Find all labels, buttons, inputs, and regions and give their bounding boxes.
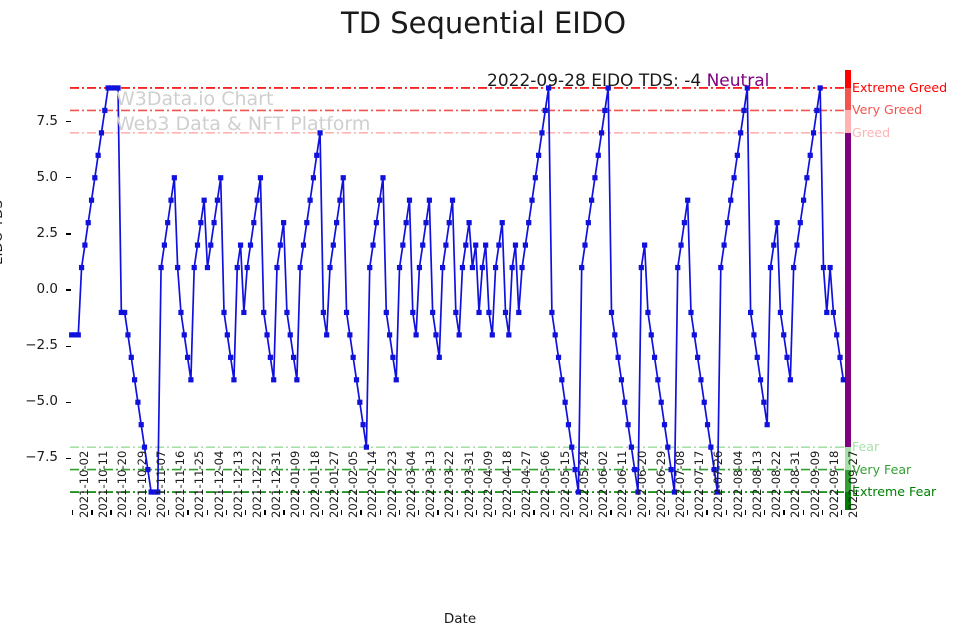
data-point-marker bbox=[453, 310, 458, 315]
data-point-marker bbox=[235, 265, 240, 270]
data-point-marker bbox=[506, 332, 511, 337]
data-point-marker bbox=[566, 422, 571, 427]
data-point-marker bbox=[473, 243, 478, 248]
threshold-label: Very Fear bbox=[852, 462, 911, 477]
data-point-marker bbox=[765, 422, 770, 427]
x-tick-mark bbox=[514, 510, 515, 515]
data-point-marker bbox=[281, 220, 286, 225]
x-tick-label: 2021-11-25 bbox=[192, 451, 206, 518]
data-point-marker bbox=[619, 377, 624, 382]
data-point-marker bbox=[168, 198, 173, 203]
data-point-marker bbox=[519, 265, 524, 270]
data-point-marker bbox=[162, 243, 167, 248]
plot-area bbox=[70, 70, 845, 510]
data-point-marker bbox=[705, 422, 710, 427]
data-point-marker bbox=[463, 243, 468, 248]
data-point-marker bbox=[271, 377, 276, 382]
data-point-marker bbox=[301, 243, 306, 248]
data-point-marker bbox=[132, 377, 137, 382]
annotation-value: 2022-09-28 EIDO TDS: -4 bbox=[487, 71, 701, 91]
data-point-marker bbox=[821, 265, 826, 270]
watermark-line-1: W3Data.io Chart bbox=[116, 88, 273, 110]
x-tick-mark bbox=[380, 510, 381, 515]
data-point-marker bbox=[450, 198, 455, 203]
watermark-line-2: Web3 Data & NFT Platform bbox=[116, 113, 370, 135]
data-point-marker bbox=[493, 265, 498, 270]
x-tick-mark bbox=[572, 510, 573, 515]
x-tick-label: 2021-11-16 bbox=[173, 451, 187, 518]
threshold-label: Greed bbox=[852, 125, 890, 140]
data-point-marker bbox=[308, 198, 313, 203]
data-point-marker bbox=[278, 243, 283, 248]
data-point-marker bbox=[513, 243, 518, 248]
status-colorbar bbox=[845, 70, 851, 510]
data-point-marker bbox=[99, 130, 104, 135]
data-point-marker bbox=[102, 108, 107, 113]
data-point-marker bbox=[129, 355, 134, 360]
data-point-marker bbox=[616, 355, 621, 360]
data-point-marker bbox=[457, 332, 462, 337]
data-point-marker bbox=[404, 220, 409, 225]
data-point-marker bbox=[801, 198, 806, 203]
y-tick-label: 7.5 bbox=[2, 113, 58, 129]
data-point-marker bbox=[430, 310, 435, 315]
data-point-marker bbox=[400, 243, 405, 248]
data-point-marker bbox=[784, 355, 789, 360]
x-tick-mark bbox=[495, 510, 496, 515]
data-point-marker bbox=[264, 332, 269, 337]
data-point-marker bbox=[374, 220, 379, 225]
data-point-marker bbox=[675, 265, 680, 270]
x-tick-mark bbox=[630, 510, 631, 515]
data-point-marker bbox=[334, 220, 339, 225]
x-tick-label: 2022-01-09 bbox=[288, 451, 302, 518]
x-tick-label: 2022-07-26 bbox=[711, 451, 725, 518]
x-axis-label: Date bbox=[0, 611, 920, 627]
x-tick-mark bbox=[303, 510, 304, 515]
data-point-marker bbox=[76, 332, 81, 337]
x-tick-label: 2022-04-18 bbox=[500, 451, 514, 518]
x-tick-mark bbox=[264, 510, 265, 515]
y-tick-label: 0.0 bbox=[2, 281, 58, 297]
data-point-marker bbox=[321, 310, 326, 315]
data-point-marker bbox=[311, 175, 316, 180]
data-point-marker bbox=[808, 153, 813, 158]
data-point-marker bbox=[639, 265, 644, 270]
x-tick-mark bbox=[668, 510, 669, 515]
data-point-marker bbox=[652, 355, 657, 360]
data-point-marker bbox=[79, 265, 84, 270]
data-point-marker bbox=[466, 220, 471, 225]
data-point-marker bbox=[659, 400, 664, 405]
data-point-marker bbox=[178, 310, 183, 315]
data-point-marker bbox=[526, 220, 531, 225]
data-point-marker bbox=[655, 377, 660, 382]
data-point-marker bbox=[625, 422, 630, 427]
data-point-marker bbox=[536, 153, 541, 158]
data-point-marker bbox=[718, 265, 723, 270]
x-tick-label: 2022-03-22 bbox=[442, 451, 456, 518]
x-tick-label: 2022-08-22 bbox=[769, 451, 783, 518]
y-tick-label: −5.0 bbox=[2, 393, 58, 409]
x-tick-mark bbox=[399, 510, 400, 515]
data-point-marker bbox=[698, 377, 703, 382]
data-point-marker bbox=[380, 175, 385, 180]
data-point-marker bbox=[529, 198, 534, 203]
data-point-marker bbox=[460, 265, 465, 270]
x-tick-label: 2022-02-23 bbox=[385, 451, 399, 518]
x-tick-label: 2022-07-17 bbox=[692, 451, 706, 518]
data-point-marker bbox=[811, 130, 816, 135]
data-point-marker bbox=[261, 310, 266, 315]
y-tick-label: 5.0 bbox=[2, 169, 58, 185]
x-tick-mark bbox=[553, 510, 554, 515]
x-tick-label: 2022-03-13 bbox=[423, 451, 437, 518]
x-tick-label: 2022-04-27 bbox=[519, 451, 533, 518]
data-point-marker bbox=[202, 198, 207, 203]
data-point-marker bbox=[814, 108, 819, 113]
y-tick-mark bbox=[66, 346, 71, 347]
x-tick-mark bbox=[168, 510, 169, 515]
data-point-marker bbox=[122, 310, 127, 315]
data-point-marker bbox=[599, 130, 604, 135]
data-point-marker bbox=[440, 265, 445, 270]
x-tick-mark bbox=[745, 510, 746, 515]
data-point-marker bbox=[135, 400, 140, 405]
data-point-marker bbox=[500, 220, 505, 225]
data-point-marker bbox=[645, 310, 650, 315]
data-point-marker bbox=[708, 445, 713, 450]
data-point-marker bbox=[758, 377, 763, 382]
data-point-marker bbox=[291, 355, 296, 360]
data-point-marker bbox=[367, 265, 372, 270]
data-point-marker bbox=[351, 355, 356, 360]
data-point-marker bbox=[834, 332, 839, 337]
x-tick-label: 2021-10-11 bbox=[96, 451, 110, 518]
x-tick-mark bbox=[322, 510, 323, 515]
data-point-marker bbox=[662, 422, 667, 427]
data-point-marker bbox=[751, 332, 756, 337]
chart-page: TD Sequential EIDO W3Data.io Chart Web3 … bbox=[0, 0, 967, 633]
data-point-marker bbox=[327, 265, 332, 270]
x-tick-mark bbox=[706, 510, 707, 515]
page-title: TD Sequential EIDO bbox=[0, 6, 967, 40]
data-point-marker bbox=[649, 332, 654, 337]
data-point-marker bbox=[175, 265, 180, 270]
data-point-marker bbox=[794, 243, 799, 248]
x-tick-mark bbox=[726, 510, 727, 515]
x-tick-label: 2022-02-14 bbox=[365, 451, 379, 518]
data-point-marker bbox=[622, 400, 627, 405]
x-tick-label: 2022-01-27 bbox=[327, 451, 341, 518]
data-point-marker bbox=[612, 332, 617, 337]
x-tick-label: 2022-05-06 bbox=[538, 451, 552, 518]
data-point-marker bbox=[417, 265, 422, 270]
data-point-marker bbox=[503, 310, 508, 315]
data-point-marker bbox=[695, 355, 700, 360]
data-point-marker bbox=[125, 332, 130, 337]
data-point-marker bbox=[248, 243, 253, 248]
data-point-marker bbox=[553, 332, 558, 337]
data-point-marker bbox=[370, 243, 375, 248]
data-point-marker bbox=[433, 332, 438, 337]
data-point-marker bbox=[354, 377, 359, 382]
y-tick-label: 2.5 bbox=[2, 225, 58, 241]
data-point-marker bbox=[741, 108, 746, 113]
data-point-marker bbox=[728, 198, 733, 203]
x-tick-label: 2022-08-04 bbox=[731, 451, 745, 518]
y-tick-mark bbox=[66, 402, 71, 403]
data-point-marker bbox=[337, 198, 342, 203]
x-tick-mark bbox=[457, 510, 458, 515]
x-tick-label: 2022-05-15 bbox=[558, 451, 572, 518]
data-point-marker bbox=[569, 445, 574, 450]
colorbar-segment bbox=[845, 70, 851, 88]
annotation-status: Neutral bbox=[707, 71, 770, 91]
data-point-marker bbox=[423, 220, 428, 225]
x-tick-label: 2022-08-31 bbox=[788, 451, 802, 518]
data-point-marker bbox=[96, 153, 101, 158]
data-point-marker bbox=[298, 265, 303, 270]
data-point-marker bbox=[725, 220, 730, 225]
x-tick-mark bbox=[803, 510, 804, 515]
x-tick-mark bbox=[437, 510, 438, 515]
data-point-marker bbox=[241, 310, 246, 315]
data-point-marker bbox=[831, 310, 836, 315]
data-point-marker bbox=[702, 400, 707, 405]
data-point-marker bbox=[341, 175, 346, 180]
data-point-marker bbox=[579, 265, 584, 270]
data-point-marker bbox=[470, 265, 475, 270]
x-tick-mark bbox=[476, 510, 477, 515]
x-tick-mark bbox=[533, 510, 534, 515]
data-point-marker bbox=[394, 377, 399, 382]
x-tick-mark bbox=[591, 510, 592, 515]
data-point-marker bbox=[172, 175, 177, 180]
x-tick-label: 2022-04-09 bbox=[481, 451, 495, 518]
data-point-marker bbox=[139, 422, 144, 427]
data-point-marker bbox=[221, 310, 226, 315]
y-tick-label: −2.5 bbox=[2, 337, 58, 353]
data-point-marker bbox=[556, 355, 561, 360]
x-tick-mark bbox=[841, 510, 842, 515]
threshold-label: Fear bbox=[852, 439, 879, 454]
data-point-marker bbox=[158, 265, 163, 270]
data-point-marker bbox=[258, 175, 263, 180]
data-point-marker bbox=[778, 310, 783, 315]
data-point-marker bbox=[397, 265, 402, 270]
data-point-marker bbox=[818, 85, 823, 90]
x-tick-label: 2022-09-18 bbox=[827, 451, 841, 518]
x-tick-mark bbox=[72, 510, 73, 515]
data-point-marker bbox=[841, 377, 846, 382]
data-point-marker bbox=[211, 220, 216, 225]
y-tick-mark bbox=[66, 177, 71, 178]
threshold-label: Extreme Fear bbox=[852, 484, 936, 499]
data-point-marker bbox=[748, 310, 753, 315]
x-tick-mark bbox=[822, 510, 823, 515]
series-canvas bbox=[70, 70, 845, 510]
x-tick-mark bbox=[91, 510, 92, 515]
data-point-marker bbox=[324, 332, 329, 337]
data-point-marker bbox=[483, 243, 488, 248]
data-point-marker bbox=[476, 310, 481, 315]
data-point-marker bbox=[781, 332, 786, 337]
data-point-marker bbox=[609, 310, 614, 315]
data-point-marker bbox=[685, 198, 690, 203]
data-point-marker bbox=[692, 332, 697, 337]
data-point-marker bbox=[357, 400, 362, 405]
x-tick-label: 2022-09-09 bbox=[808, 451, 822, 518]
data-point-marker bbox=[208, 243, 213, 248]
data-point-marker bbox=[563, 400, 568, 405]
data-point-marker bbox=[377, 198, 382, 203]
data-point-marker bbox=[165, 220, 170, 225]
data-point-marker bbox=[510, 265, 515, 270]
data-point-marker bbox=[496, 243, 501, 248]
data-point-marker bbox=[828, 265, 833, 270]
x-tick-label: 2022-07-08 bbox=[673, 451, 687, 518]
y-tick-mark bbox=[66, 458, 71, 459]
x-tick-mark bbox=[149, 510, 150, 515]
threshold-label: Very Greed bbox=[852, 102, 922, 117]
y-tick-mark bbox=[66, 121, 71, 122]
data-point-marker bbox=[205, 265, 210, 270]
x-tick-label: 2022-05-24 bbox=[577, 451, 591, 518]
data-point-marker bbox=[722, 243, 727, 248]
data-point-marker bbox=[837, 355, 842, 360]
data-point-marker bbox=[331, 243, 336, 248]
annotation-text: 2022-09-28 EIDO TDS: -4 Neutral bbox=[487, 71, 769, 91]
data-point-marker bbox=[215, 198, 220, 203]
data-point-marker bbox=[420, 243, 425, 248]
x-tick-label: 2022-06-29 bbox=[654, 451, 668, 518]
x-tick-label: 2022-06-02 bbox=[596, 451, 610, 518]
x-tick-label: 2021-12-13 bbox=[231, 451, 245, 518]
data-point-marker bbox=[414, 332, 419, 337]
data-point-marker bbox=[198, 220, 203, 225]
x-tick-label: 2022-03-04 bbox=[404, 451, 418, 518]
data-point-marker bbox=[437, 355, 442, 360]
data-point-marker bbox=[761, 400, 766, 405]
data-point-marker bbox=[427, 198, 432, 203]
data-point-marker bbox=[771, 243, 776, 248]
data-point-marker bbox=[185, 355, 190, 360]
data-point-marker bbox=[218, 175, 223, 180]
x-tick-mark bbox=[130, 510, 131, 515]
y-tick-label: −7.5 bbox=[2, 449, 58, 465]
data-point-marker bbox=[251, 220, 256, 225]
data-point-marker bbox=[294, 377, 299, 382]
x-tick-label: 2021-10-02 bbox=[77, 451, 91, 518]
data-point-marker bbox=[288, 332, 293, 337]
data-point-marker bbox=[586, 220, 591, 225]
data-point-marker bbox=[390, 355, 395, 360]
data-point-marker bbox=[549, 310, 554, 315]
x-tick-mark bbox=[783, 510, 784, 515]
data-point-marker bbox=[592, 175, 597, 180]
data-point-marker bbox=[543, 108, 548, 113]
data-point-marker bbox=[361, 422, 366, 427]
data-point-marker bbox=[735, 153, 740, 158]
data-point-marker bbox=[347, 332, 352, 337]
x-tick-label: 2021-12-31 bbox=[269, 451, 283, 518]
data-point-marker bbox=[791, 265, 796, 270]
data-point-marker bbox=[678, 243, 683, 248]
x-tick-label: 2022-03-31 bbox=[462, 451, 476, 518]
x-tick-mark bbox=[245, 510, 246, 515]
data-point-marker bbox=[268, 355, 273, 360]
data-point-marker bbox=[798, 220, 803, 225]
x-tick-label: 2021-12-22 bbox=[250, 451, 264, 518]
x-tick-mark bbox=[110, 510, 111, 515]
x-tick-mark bbox=[341, 510, 342, 515]
x-tick-mark bbox=[360, 510, 361, 515]
data-point-marker bbox=[755, 355, 760, 360]
x-tick-label: 2022-06-11 bbox=[615, 451, 629, 518]
x-tick-label: 2021-12-04 bbox=[212, 451, 226, 518]
data-point-marker bbox=[410, 310, 415, 315]
data-point-marker bbox=[596, 153, 601, 158]
data-point-marker bbox=[238, 243, 243, 248]
data-point-marker bbox=[539, 130, 544, 135]
data-point-marker bbox=[304, 220, 309, 225]
data-point-marker bbox=[688, 310, 693, 315]
x-tick-mark bbox=[764, 510, 765, 515]
data-point-marker bbox=[738, 130, 743, 135]
x-tick-label: 2021-11-07 bbox=[154, 451, 168, 518]
colorbar-segment bbox=[845, 133, 851, 447]
data-point-marker bbox=[86, 220, 91, 225]
colorbar-segment bbox=[845, 110, 851, 132]
data-point-marker bbox=[642, 243, 647, 248]
data-point-marker bbox=[142, 445, 147, 450]
y-tick-mark bbox=[66, 289, 71, 290]
data-point-marker bbox=[192, 265, 197, 270]
data-point-marker bbox=[228, 355, 233, 360]
data-point-marker bbox=[447, 220, 452, 225]
data-point-marker bbox=[804, 175, 809, 180]
data-line bbox=[72, 88, 844, 492]
data-point-marker bbox=[387, 332, 392, 337]
data-point-marker bbox=[188, 377, 193, 382]
x-tick-label: 2022-06-20 bbox=[635, 451, 649, 518]
x-tick-mark bbox=[283, 510, 284, 515]
data-point-marker bbox=[775, 220, 780, 225]
data-point-marker bbox=[89, 198, 94, 203]
data-point-marker bbox=[92, 175, 97, 180]
threshold-label: Extreme Greed bbox=[852, 80, 947, 95]
x-tick-mark bbox=[187, 510, 188, 515]
data-point-marker bbox=[480, 265, 485, 270]
data-point-marker bbox=[582, 243, 587, 248]
data-point-marker bbox=[788, 377, 793, 382]
x-tick-label: 2022-02-05 bbox=[346, 451, 360, 518]
data-point-marker bbox=[533, 175, 538, 180]
data-point-marker bbox=[629, 445, 634, 450]
y-tick-mark bbox=[66, 233, 71, 234]
data-point-marker bbox=[245, 265, 250, 270]
x-tick-label: 2021-10-20 bbox=[115, 451, 129, 518]
x-tick-label: 2022-01-18 bbox=[308, 451, 322, 518]
data-point-marker bbox=[384, 310, 389, 315]
x-tick-label: 2021-10-29 bbox=[135, 451, 149, 518]
data-point-marker bbox=[314, 153, 319, 158]
x-tick-mark bbox=[207, 510, 208, 515]
data-point-marker bbox=[407, 198, 412, 203]
data-point-marker bbox=[559, 377, 564, 382]
data-point-marker bbox=[195, 243, 200, 248]
